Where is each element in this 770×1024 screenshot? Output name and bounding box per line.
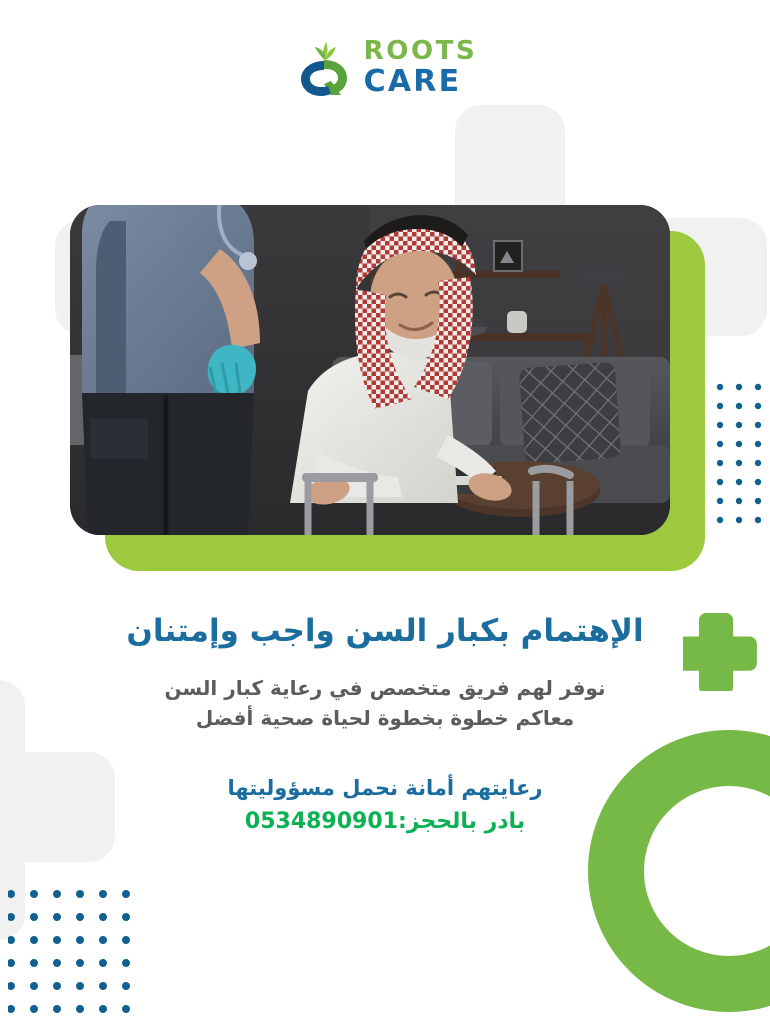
decor-dot-grid-right: [716, 382, 770, 532]
promise-text: رعايتهم أمانة نحمل مسؤوليتها: [0, 773, 770, 803]
brand-name-top: ROOTS: [364, 38, 478, 64]
hero-photo-block: [70, 205, 685, 550]
hero-photo: [70, 205, 670, 535]
hero-photo-illustration: [70, 205, 670, 535]
brand-logo: ROOTS CARE: [0, 38, 770, 97]
subtitle-line-2: معاكم خطوة بخطوة لحياة صحية أفضل: [0, 703, 770, 733]
message-block: الإهتمام بكبار السن واجب وإمتنان نوفر له…: [0, 612, 770, 838]
poster-canvas: ROOTS CARE: [0, 0, 770, 1024]
decor-dot-grid-bottom-left: [8, 890, 158, 1020]
subtitle-line-1: نوفر لهم فريق متخصص في رعاية كبار السن: [0, 673, 770, 703]
roots-care-apple-leaf-logo-icon: [293, 39, 355, 97]
brand-name-bottom: CARE: [364, 67, 478, 97]
booking-phone[interactable]: بادر بالحجز:0534890901: [0, 806, 770, 838]
page-title: الإهتمام بكبار السن واجب وإمتنان: [0, 612, 770, 651]
